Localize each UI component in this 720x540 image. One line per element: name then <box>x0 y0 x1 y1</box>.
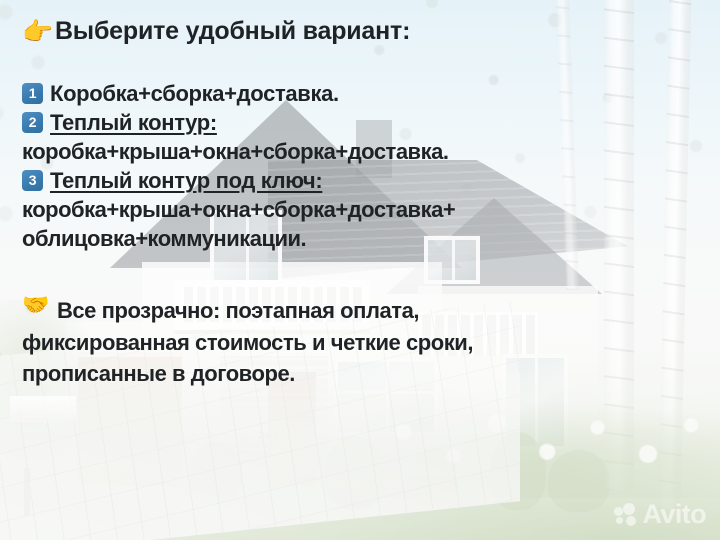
option-item-3: 3 Теплый контур под ключ: <box>22 167 706 195</box>
option-continuation-3: коробка+крыша+окна+сборка+доставка+ <box>22 196 706 224</box>
option-number-badge-1: 1 <box>22 83 43 104</box>
option-continuation-2: коробка+крыша+окна+сборка+доставка. <box>22 138 706 166</box>
headline-text: Выберите удобный вариант: <box>55 18 410 46</box>
option-continuation-3b: облицовка+коммуникации. <box>22 225 706 253</box>
avito-wordmark: Avito <box>643 501 707 528</box>
avito-watermark: Avito <box>614 501 707 528</box>
headline: 👉 Выберите удобный вариант: <box>22 18 706 46</box>
handshake-icon: 🤝 <box>22 295 49 317</box>
option-title-3: Теплый контур под ключ: <box>50 167 322 195</box>
options-list: 1 Коробка+сборка+доставка. 2 Теплый конт… <box>22 80 706 254</box>
avito-dots-icon <box>614 503 640 527</box>
footer-line-1: 🤝 Все прозрачно: поэтапная оплата, <box>22 295 706 326</box>
footer-line-3: прописанные в договоре. <box>22 358 706 389</box>
footer-block: 🤝 Все прозрачно: поэтапная оплата, фикси… <box>22 295 706 389</box>
option-body-1: Коробка+сборка+доставка. <box>50 80 339 108</box>
option-title-2: Теплый контур: <box>50 109 217 137</box>
footer-line-1-text: Все прозрачно: поэтапная оплата, <box>57 295 419 326</box>
text-content: 👉 Выберите удобный вариант: 1 Коробка+сб… <box>0 0 720 540</box>
option-number-badge-2: 2 <box>22 112 43 133</box>
option-item-2: 2 Теплый контур: <box>22 109 706 137</box>
option-number-badge-3: 3 <box>22 170 43 191</box>
poster-canvas: 242 <box>0 0 720 540</box>
option-item-1: 1 Коробка+сборка+доставка. <box>22 80 706 108</box>
pointing-right-hand-icon: 👉 <box>22 19 53 44</box>
footer-line-2: фиксированная стоимость и четкие сроки, <box>22 327 706 358</box>
